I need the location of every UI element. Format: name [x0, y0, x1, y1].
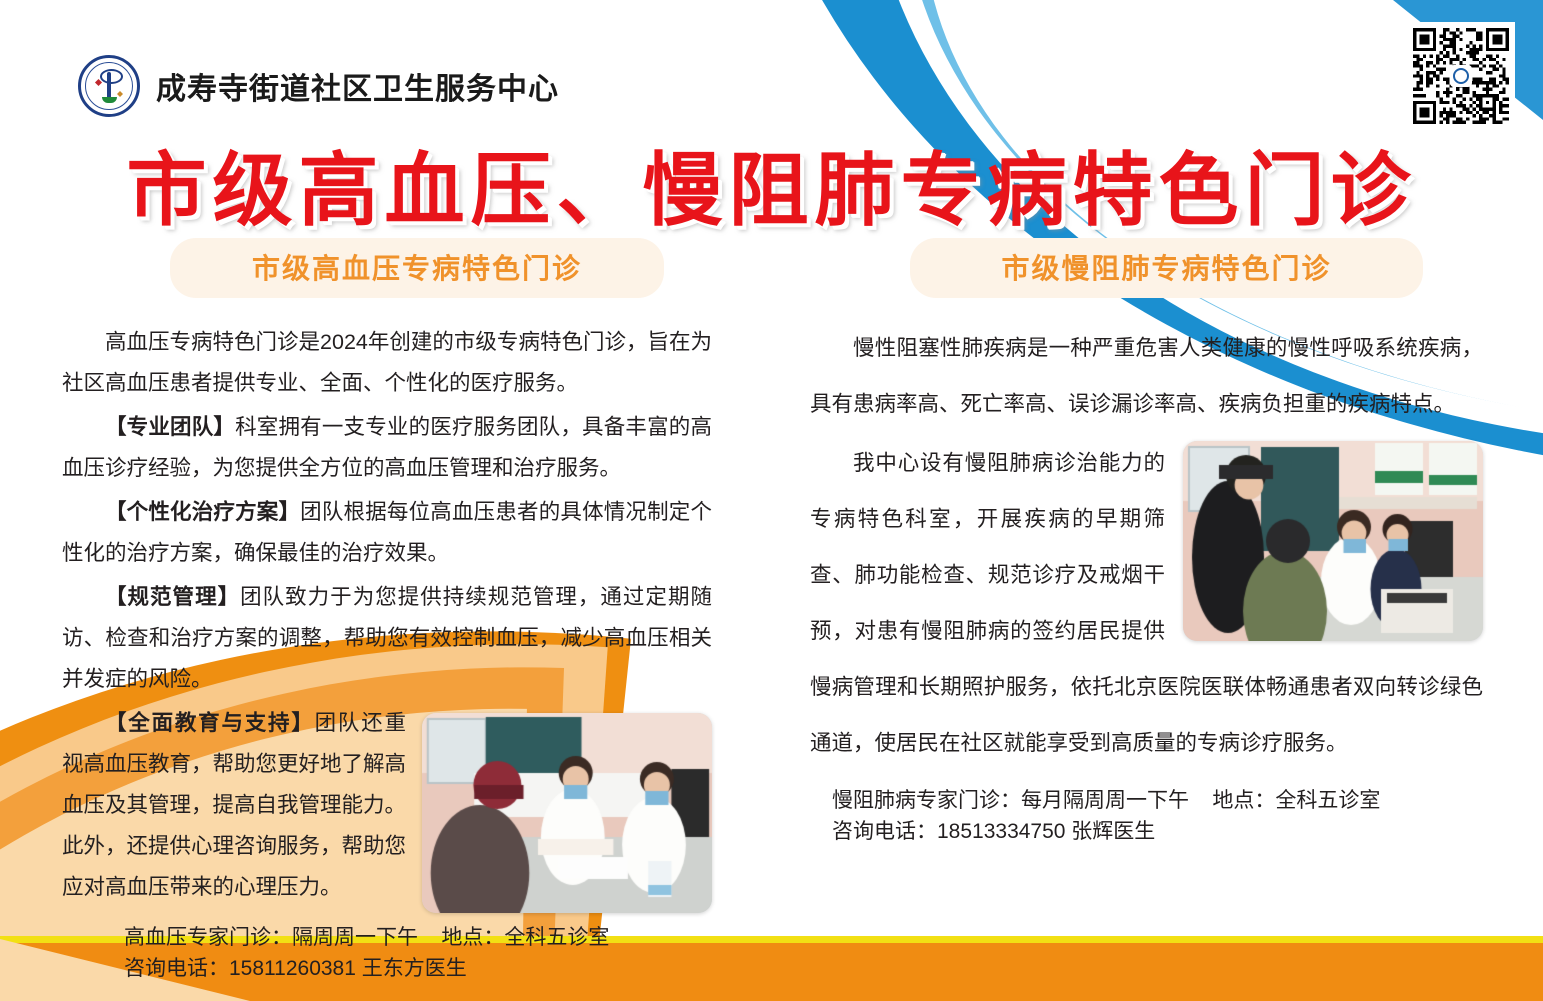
page-title: 市级高血压、慢阻肺专病特色门诊 — [0, 126, 1543, 242]
organization-name: 成寿寺街道社区卫生服务中心 — [156, 64, 559, 108]
copd-body: 慢性阻塞性肺疾病是一种严重危害人类健康的慢性呼吸系统疾病，具有患病率高、死亡率高… — [810, 320, 1483, 771]
paragraph: 慢性阻塞性肺疾病是一种严重危害人类健康的慢性呼吸系统疾病，具有患病率高、死亡率高… — [810, 320, 1483, 432]
copd-section-title: 市级慢阻肺专病特色门诊 — [910, 238, 1423, 298]
paragraph-label: 【规范管理】 — [105, 585, 240, 609]
hypertension-clinic-photo — [422, 713, 712, 913]
hypertension-section-title: 市级高血压专病特色门诊 — [170, 238, 664, 298]
paragraph-text: 慢性阻塞性肺疾病是一种严重危害人类健康的慢性呼吸系统疾病，具有患病率高、死亡率高… — [810, 336, 1483, 416]
paragraph-text: 高血压专病特色门诊是2024年创建的市级专病特色门诊，旨在为社区高血压患者提供专… — [62, 330, 712, 395]
clinic-phone[interactable]: 咨询电话：18513334750 张辉医生 — [832, 816, 1483, 847]
hypertension-contact: 高血压专家门诊：隔周周一下午 地点：全科五诊室 咨询电话：15811260381… — [62, 922, 712, 984]
copd-clinic-photo — [1183, 441, 1483, 641]
paragraph: 【个性化治疗方案】团队根据每位高血压患者的具体情况制定个性化的治疗方案，确保最佳… — [62, 492, 712, 574]
hypertension-column: 市级高血压专病特色门诊 高血压专病特色门诊是2024年创建的市级专病特色门诊，旨… — [0, 238, 770, 984]
paragraph: 高血压专病特色门诊是2024年创建的市级专病特色门诊，旨在为社区高血压患者提供专… — [62, 322, 712, 404]
copd-column: 市级慢阻肺专病特色门诊 慢性阻塞性肺疾病是一种严重危害人类健康的慢性呼吸系统疾病… — [770, 238, 1543, 984]
clinic-schedule: 慢阻肺病专家门诊：每月隔周周一下午 地点：全科五诊室 — [832, 785, 1483, 816]
hypertension-body: 高血压专病特色门诊是2024年创建的市级专病特色门诊，旨在为社区高血压患者提供专… — [62, 322, 712, 908]
paragraph: 【规范管理】团队致力于为您提供持续规范管理，通过定期随访、检查和治疗方案的调整，… — [62, 577, 712, 700]
paragraph-label: 【个性化治疗方案】 — [105, 500, 300, 524]
paragraph-label: 【专业团队】 — [105, 415, 235, 439]
clinic-schedule: 高血压专家门诊：隔周周一下午 地点：全科五诊室 — [124, 922, 712, 953]
copd-contact: 慢阻肺病专家门诊：每月隔周周一下午 地点：全科五诊室 咨询电话：18513334… — [810, 785, 1483, 847]
clinic-phone[interactable]: 咨询电话：15811260381 王东方医生 — [124, 953, 712, 984]
qr-code-icon[interactable] — [1413, 28, 1509, 124]
qr-center-logo-icon — [1450, 65, 1472, 87]
medical-emblem-icon — [78, 55, 140, 117]
paragraph-label: 【全面教育与支持】 — [105, 711, 315, 735]
paragraph-text: 团队还重视高血压教育，帮助您更好地了解高血压及其管理，提高自我管理能力。此外，还… — [62, 711, 406, 899]
poster-canvas: 成寿寺街道社区卫生服务中心 市级高血压、慢阻肺专病特色门诊 市级高血压专病特色门… — [0, 0, 1543, 1001]
paragraph: 【专业团队】科室拥有一支专业的医疗服务团队，具备丰富的高血压诊疗经验，为您提供全… — [62, 407, 712, 489]
qr-code-panel[interactable] — [1407, 22, 1515, 130]
brand-header: 成寿寺街道社区卫生服务中心 — [78, 55, 559, 117]
content-columns: 市级高血压专病特色门诊 高血压专病特色门诊是2024年创建的市级专病特色门诊，旨… — [0, 238, 1543, 984]
